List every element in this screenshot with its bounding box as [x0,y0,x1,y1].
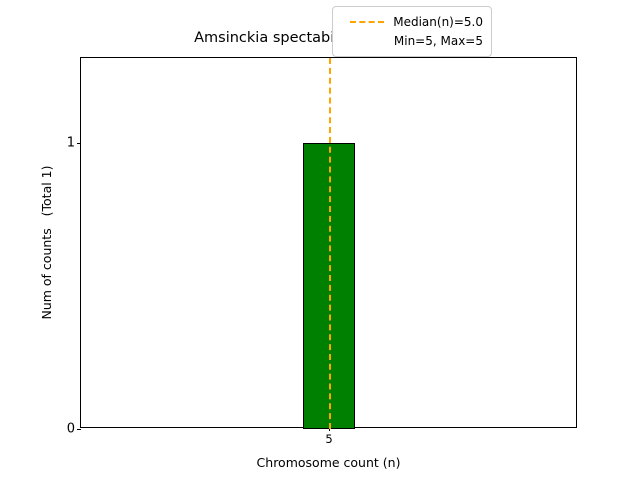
y-axis-label: Num of counts (Total 1) [36,57,58,428]
legend-label-median: Median(n)=5.0 [393,13,483,32]
x-axis-label: Chromosome count (n) [80,455,577,470]
legend: Median(n)=5.0 Min=5, Max=5 [332,6,492,57]
chart-figure: Amsinckia spectabilis var. spectabilis 1… [0,0,640,480]
dashed-line-icon [350,21,384,23]
y-axis-label-text: Num of counts (Total 1) [39,165,54,319]
plot-area: 1 0 5 [80,57,577,428]
y-tick-mark [77,429,81,430]
legend-entry-median: Median(n)=5.0 [341,13,483,32]
y-tick-mark [77,143,81,144]
legend-label-minmax: Min=5, Max=5 [394,32,483,51]
x-tick-label: 5 [325,434,332,446]
y-tick-label: 1 [67,137,75,150]
chart-title: Amsinckia spectabilis var. spectabilis [80,30,577,46]
y-tick-label: 0 [67,423,75,436]
median-line [329,58,331,429]
legend-entry-minmax: Min=5, Max=5 [341,32,483,51]
